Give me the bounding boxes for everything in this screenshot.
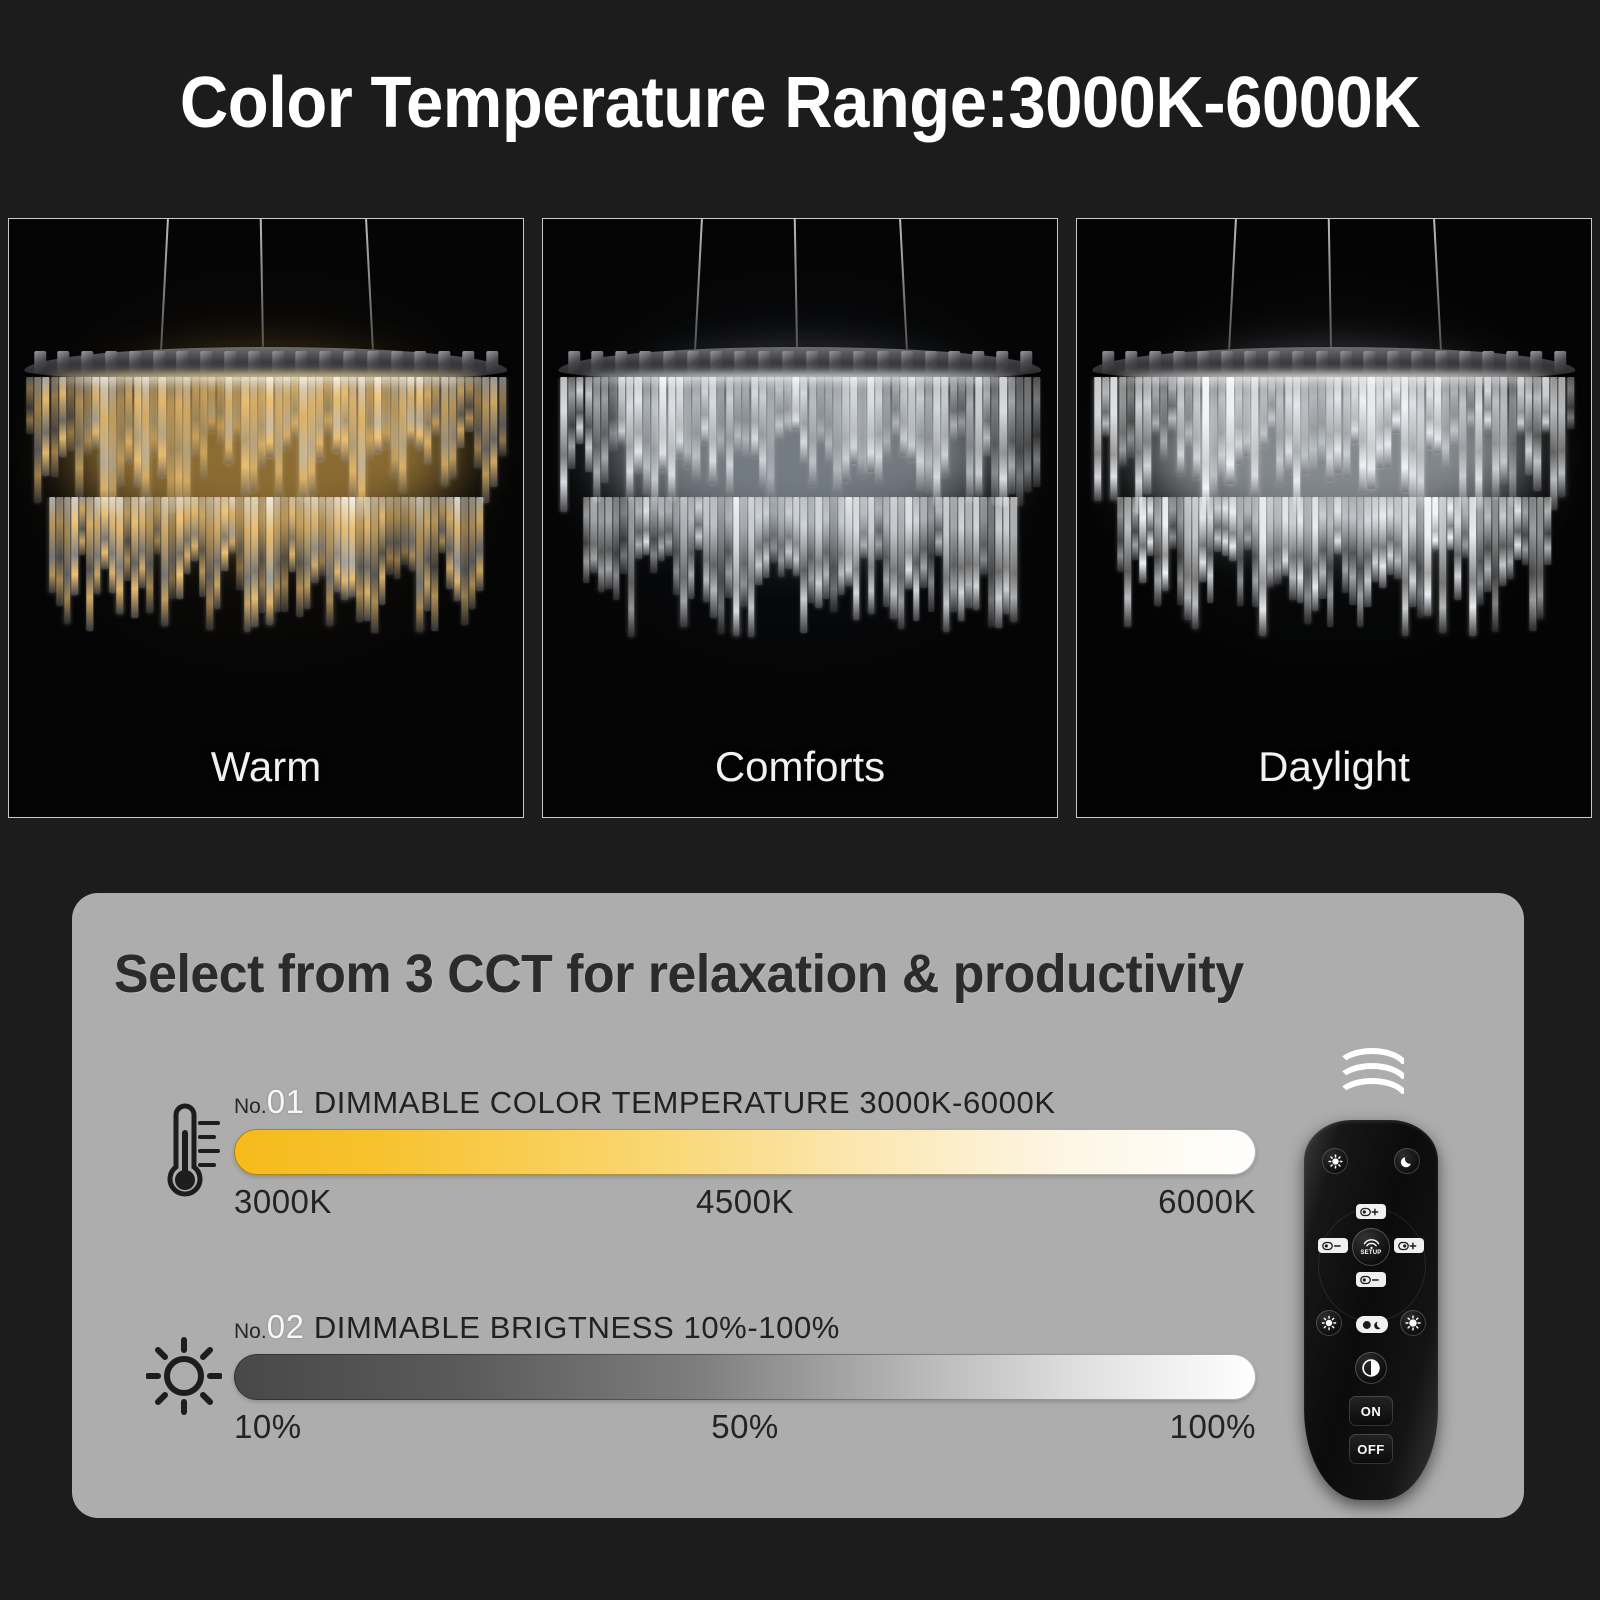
cct-panel-daylight[interactable]: Daylight [1076,218,1592,818]
cct-scale: 3000K 4500K 6000K [234,1183,1256,1225]
card-heading: Select from 3 CCT for relaxation & produ… [114,943,1391,1005]
remote-night-light-button[interactable] [1356,1316,1388,1333]
cct-panel-label: Warm [9,743,523,791]
chandelier-icon [553,347,1046,657]
brightness-scale: 10% 50% 100% [234,1408,1256,1450]
remote-body: SETUP [1304,1120,1438,1500]
feature-card: Select from 3 CCT for relaxation & produ… [72,893,1524,1518]
chandelier-icon [19,347,512,657]
remote-night-moon-button[interactable] [1394,1148,1420,1174]
row-title-text: DIMMABLE COLOR TEMPERATURE 3000K-6000K [314,1085,1056,1120]
row-no-value: 02 [267,1308,305,1345]
sun-icon [146,1326,222,1426]
remote-dim-high-sun-button[interactable] [1400,1310,1426,1336]
remote-off-button[interactable]: OFF [1349,1434,1393,1464]
remote-brightness-sun-button[interactable] [1322,1148,1348,1174]
brightness-scale-left: 10% [234,1408,302,1446]
row-no-value: 01 [267,1083,305,1120]
cct-panel-warm[interactable]: Warm [8,218,524,818]
cct-panel-group: Warm Comforts [8,218,1592,818]
remote-brightness-up-button[interactable] [1394,1238,1424,1253]
brightness-scale-right: 100% [1170,1408,1256,1446]
page-title: Color Temperature Range:3000K-6000K [56,62,1544,144]
remote-setup-label: SETUP [1360,1250,1381,1256]
feature-row-brightness-title: No.02 DIMMABLE BRIGTNESS 10%-100% [234,1308,840,1346]
cct-panel-label: Comforts [543,743,1057,791]
remote-setup-button[interactable]: SETUP [1352,1228,1390,1266]
brightness-gradient-bar[interactable] [234,1354,1256,1400]
row-title-text: DIMMABLE BRIGTNESS 10%-100% [314,1310,840,1345]
thermometer-icon [146,1101,222,1201]
rf-remote-control: SETUP [1256,1040,1486,1510]
cct-scale-right: 6000K [1158,1183,1256,1221]
feature-row-cct-title: No.01 DIMMABLE COLOR TEMPERATURE 3000K-6… [234,1083,1056,1121]
row-no-prefix: No. [234,1095,267,1118]
remote-contrast-button[interactable] [1355,1352,1387,1384]
remote-dim-low-sun-button[interactable] [1316,1310,1342,1336]
infographic-page: Color Temperature Range:3000K-6000K [0,0,1600,1600]
remote-on-button[interactable]: ON [1349,1396,1393,1426]
cct-panel-comforts[interactable]: Comforts [542,218,1058,818]
cct-scale-mid: 4500K [696,1183,794,1221]
cct-scale-left: 3000K [234,1183,332,1221]
remote-cct-up-button[interactable] [1356,1204,1386,1219]
chandelier-icon [1087,347,1580,657]
cct-gradient-bar[interactable] [234,1129,1256,1175]
remote-cct-down-button[interactable] [1318,1238,1348,1253]
remote-brightness-down-button[interactable] [1356,1272,1386,1287]
rf-signal-waves-icon [1334,1048,1410,1104]
cct-panel-label: Daylight [1077,743,1591,791]
row-no-prefix: No. [234,1320,267,1343]
brightness-scale-mid: 50% [711,1408,779,1446]
